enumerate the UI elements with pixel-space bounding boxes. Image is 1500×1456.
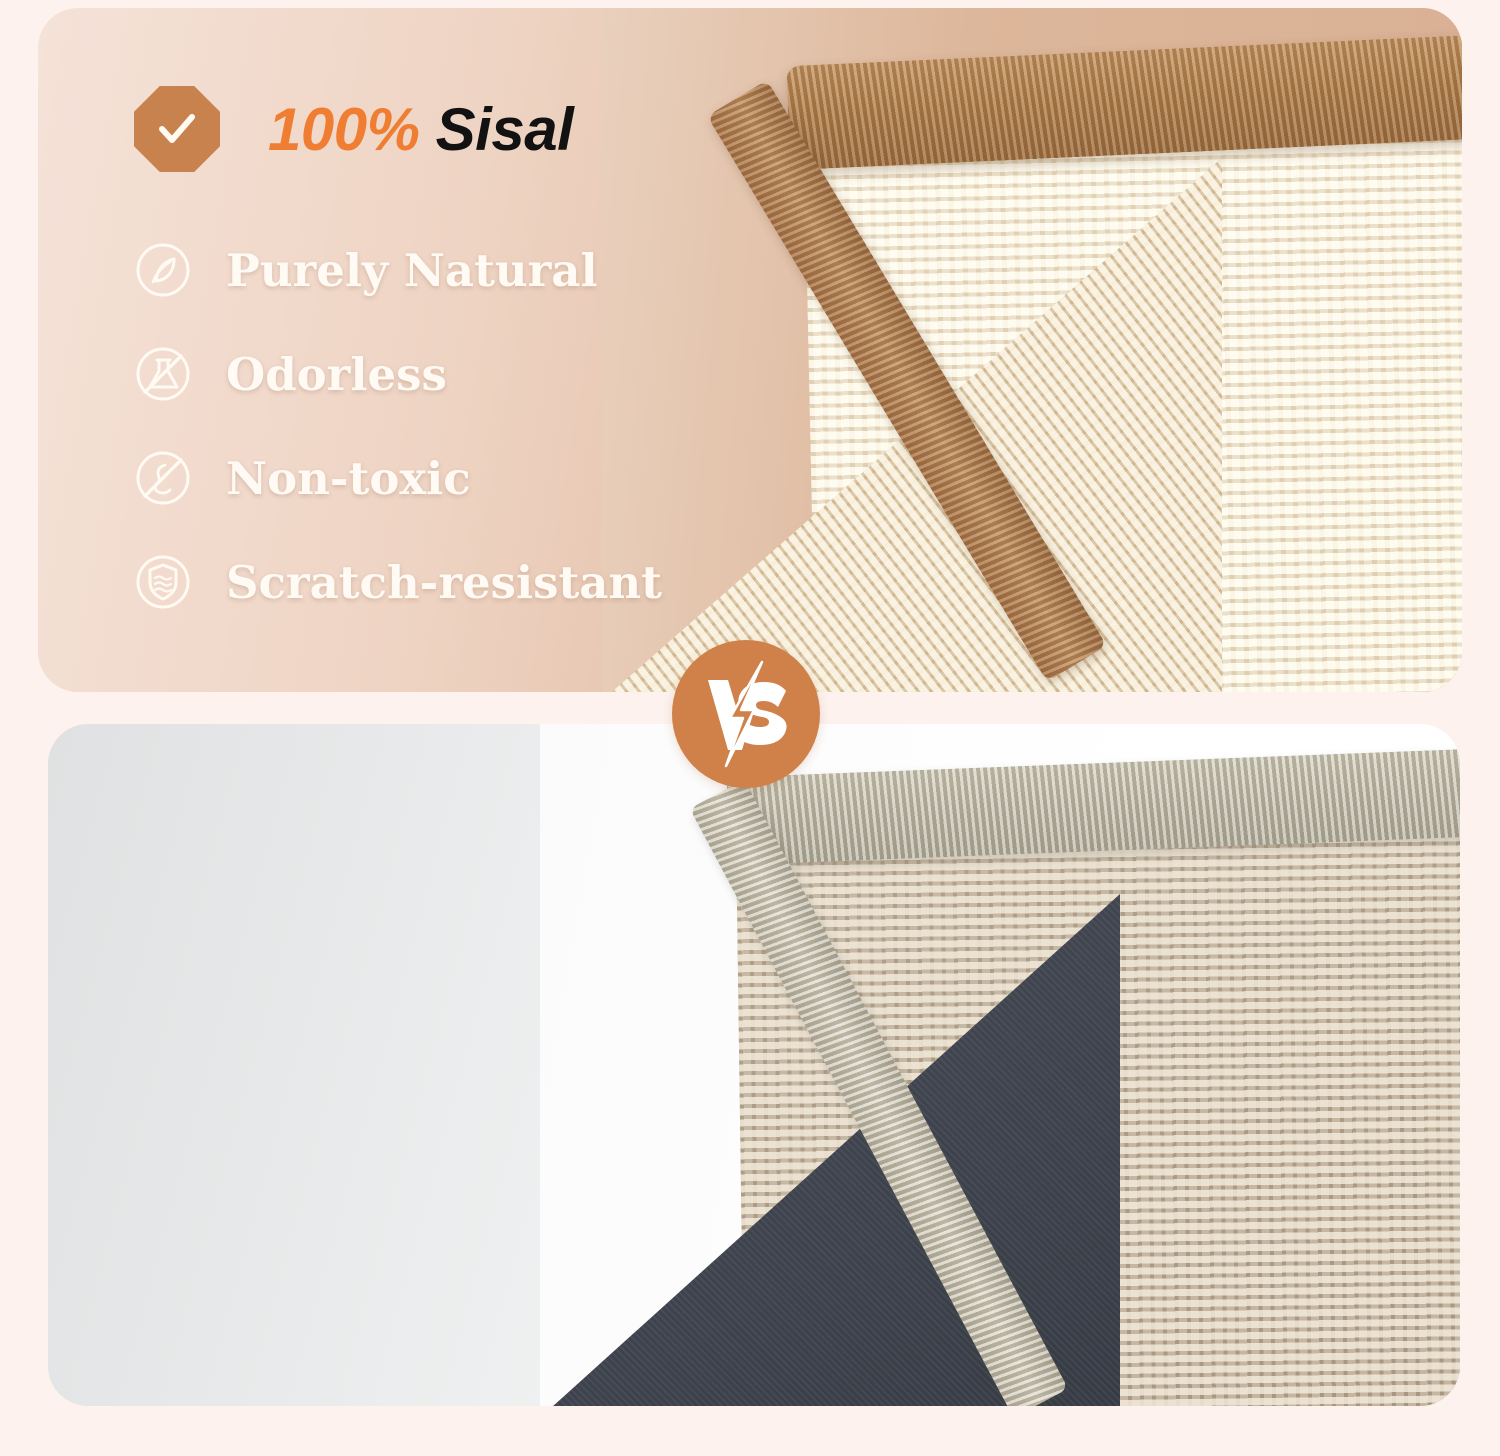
- good-feature-item-2: Odorless: [134, 322, 662, 426]
- no-flask-icon: [134, 345, 192, 403]
- shield-weave-icon: [134, 553, 192, 611]
- check-icon: [134, 86, 220, 172]
- good-feature-item-3: Non-toxic: [134, 426, 662, 530]
- good-feature-label-1: Purely Natural: [226, 244, 598, 297]
- leaf-icon: [134, 241, 192, 299]
- good-feature-item-1: Purely Natural: [134, 218, 662, 322]
- good-feature-label-3: Non-toxic: [226, 452, 471, 505]
- good-title-accent: 100%: [268, 96, 419, 163]
- good-product-card: 100% Sisal Purely Natural: [38, 8, 1462, 692]
- good-feature-item-4: Scratch-resistant: [134, 530, 662, 634]
- good-feature-list: Purely Natural Odorless: [134, 218, 662, 634]
- no-toxic-icon: [134, 449, 192, 507]
- comparison-infographic: 100% Sisal Purely Natural: [0, 0, 1500, 1456]
- good-panel-header: 100% Sisal: [134, 86, 662, 172]
- good-panel-content: 100% Sisal Purely Natural: [134, 86, 662, 634]
- bad-product-photo: [540, 724, 1460, 1406]
- good-title-main: Sisal: [436, 96, 574, 163]
- good-panel-title: 100% Sisal: [268, 95, 573, 164]
- bad-product-card: Blended Sisal: [48, 724, 1460, 1406]
- good-feature-label-4: Scratch-resistant: [226, 556, 662, 609]
- vs-badge: [672, 640, 820, 788]
- good-product-photo: [602, 8, 1462, 692]
- good-feature-label-2: Odorless: [226, 348, 447, 401]
